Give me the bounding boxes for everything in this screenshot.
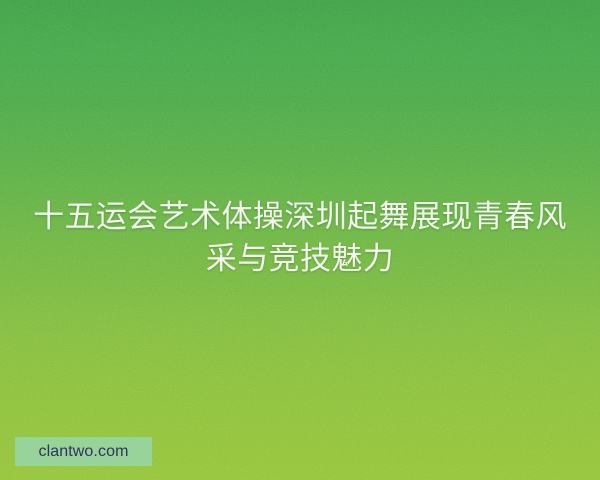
watermark-badge: clantwo.com bbox=[15, 437, 152, 466]
watermark-label: clantwo.com bbox=[38, 444, 128, 460]
page-title: 十五运会艺术体操深圳起舞展现青春风采与竞技魅力 bbox=[0, 196, 600, 280]
banner-image: 十五运会艺术体操深圳起舞展现青春风采与竞技魅力 clantwo.com bbox=[0, 0, 600, 480]
